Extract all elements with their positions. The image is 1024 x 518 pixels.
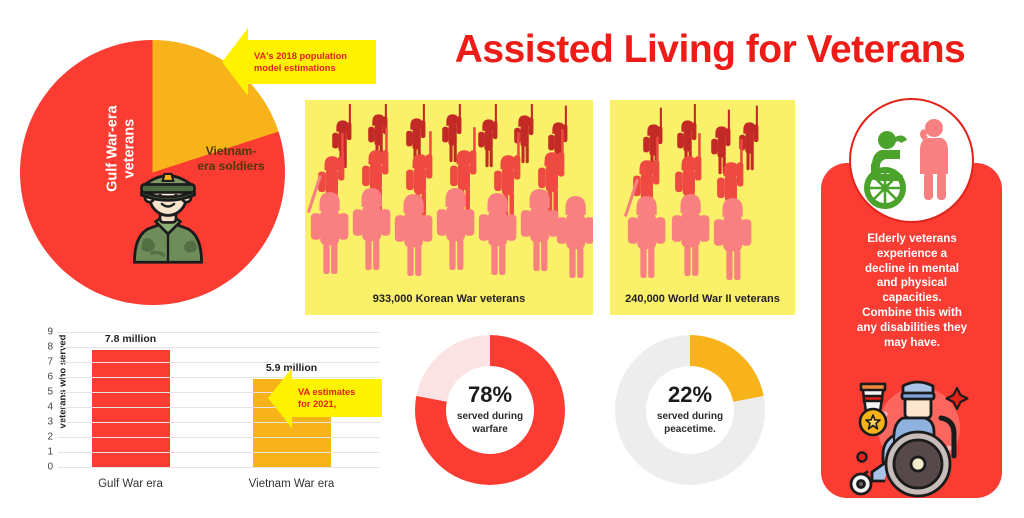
- gridline: [58, 362, 380, 363]
- y-axis-tick: 6: [47, 372, 53, 383]
- world-war-ii-caption: 240,000 World War II veterans: [625, 293, 780, 305]
- left-arrow-icon: [222, 28, 248, 96]
- left-arrow-icon: [268, 368, 292, 428]
- donut-caption-line1: served during: [457, 411, 523, 422]
- card-line-8: may have.: [884, 336, 940, 349]
- donut-caption: served during warfare: [457, 411, 523, 436]
- gridline: [58, 437, 380, 438]
- donut-percentage: 22%: [668, 384, 712, 406]
- donut-center: 22% served during peacetime.: [646, 366, 734, 454]
- warfare-donut: 78% served during warfare: [415, 335, 565, 485]
- card-line-7: any disabilities they: [857, 321, 967, 334]
- donut-caption-line1: served during: [657, 411, 723, 422]
- bar-gulf-war-era: 7.8 million Gulf War era: [92, 350, 170, 467]
- gridline: [58, 452, 380, 453]
- callout-va-2018: VA's 2018 population model estimations: [222, 28, 376, 96]
- page-title: Assisted Living for Veterans: [410, 28, 1010, 72]
- y-axis-tick: 8: [47, 342, 53, 353]
- callout-text: VA's 2018 population model estimations: [248, 40, 376, 84]
- y-axis-tick: 0: [47, 462, 53, 473]
- card-line-4: and physical: [877, 276, 947, 289]
- gridline: [58, 467, 380, 468]
- soldier-crowd-icon: [610, 104, 795, 304]
- donut-caption-line2: peacetime.: [664, 424, 716, 435]
- bar-category-gulf-war-era: Gulf War era: [98, 478, 163, 490]
- gridline: [58, 347, 380, 348]
- wheelchair-and-standing-person-icon: [851, 100, 972, 221]
- card-badge: [849, 98, 974, 223]
- y-axis-tick: 5: [47, 387, 53, 398]
- bar-category-vietnam-war-era: Vietnam War era: [249, 478, 335, 490]
- callout-line2: for 2021,: [298, 399, 336, 409]
- callout-line1: VA's 2018 population: [254, 51, 347, 61]
- card-body-text: Elderly veterans experience a decline in…: [828, 232, 996, 351]
- infographic-canvas: Assisted Living for Veterans Gulf War-er…: [0, 0, 1024, 518]
- world-war-ii-panel: 240,000 World War II veterans: [610, 100, 795, 315]
- gridline: [58, 332, 380, 333]
- soldier-avatar-icon: [115, 158, 221, 264]
- y-axis-tick: 9: [47, 327, 53, 338]
- bar-value-gulf-war-era: 7.8 million: [105, 333, 156, 345]
- card-line-2: experience a: [877, 247, 947, 260]
- donut-percentage: 78%: [468, 384, 512, 406]
- korean-war-caption: 933,000 Korean War veterans: [373, 293, 525, 305]
- y-axis-tick: 3: [47, 417, 53, 428]
- donut-caption-line2: warfare: [472, 424, 508, 435]
- y-axis-tick: 4: [47, 402, 53, 413]
- y-axis-tick: 2: [47, 432, 53, 443]
- card-line-1: Elderly veterans: [867, 232, 957, 245]
- soldier-crowd-icon: [305, 104, 593, 304]
- y-axis-tick: 7: [47, 357, 53, 368]
- korean-war-panel: 933,000 Korean War veterans: [305, 100, 593, 315]
- donut-center: 78% served during warfare: [446, 366, 534, 454]
- veteran-in-wheelchair-with-medal-icon: [845, 372, 985, 500]
- pie-label-vietnam-line1: Vietnam-: [206, 144, 256, 158]
- callout-line1: VA estimates: [298, 387, 355, 397]
- donut-caption: served during peacetime.: [657, 411, 723, 436]
- callout-line2: model estimations: [254, 63, 336, 73]
- callout-va-2021: VA estimates for 2021,: [268, 368, 382, 428]
- card-line-6: Combine this with: [862, 306, 962, 319]
- card-line-3: decline in mental: [865, 262, 959, 275]
- callout-text: VA estimates for 2021,: [292, 379, 382, 417]
- card-line-5: capacities.: [882, 291, 941, 304]
- y-axis-tick: 1: [47, 447, 53, 458]
- peacetime-donut: 22% served during peacetime.: [615, 335, 765, 485]
